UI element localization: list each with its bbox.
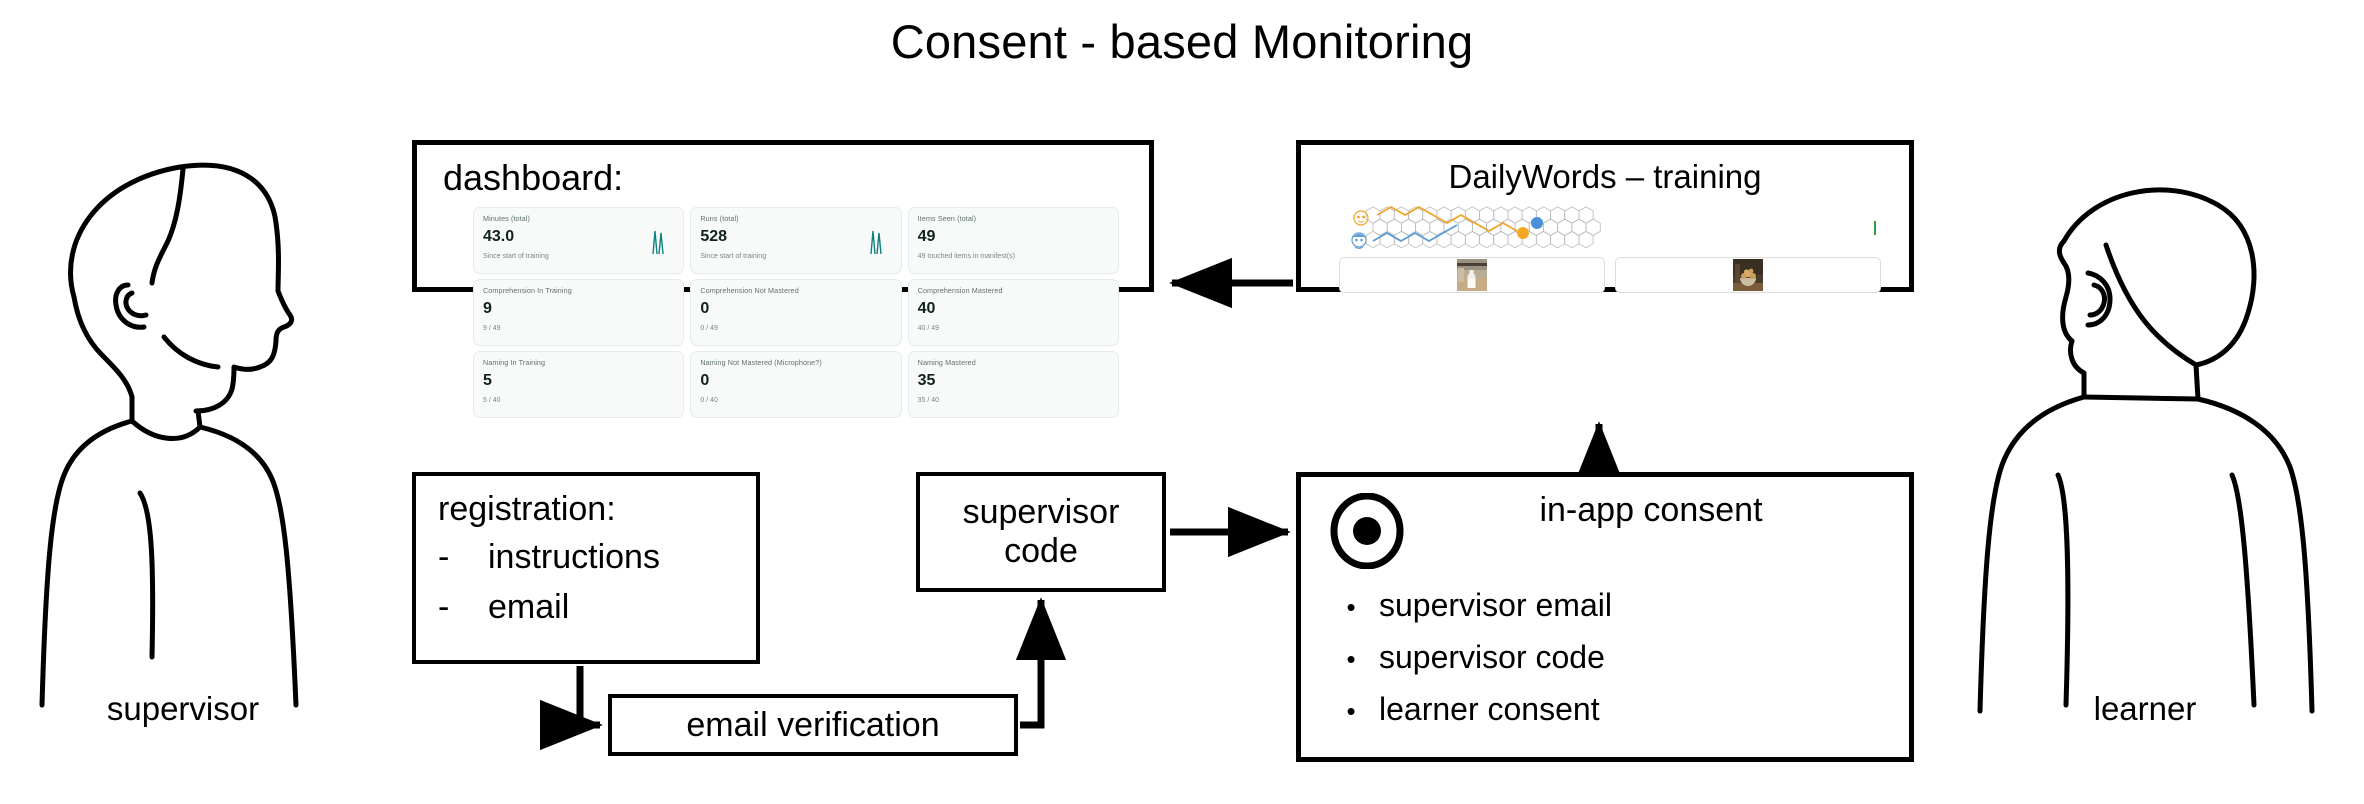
blue-avatar-icon [1352, 233, 1366, 249]
registration-item-label: email [488, 588, 569, 627]
bullet-icon: • [1323, 696, 1379, 727]
consent-list-item: •learner consent [1323, 691, 1883, 743]
dashboard-card: Items Seen (total)4949 touched items in … [908, 207, 1119, 274]
learner-figure-icon [1960, 145, 2330, 745]
dashboard-card-value: 43.0 [483, 229, 674, 245]
dashboard-card: Comprehension Not Mastered00 / 490% [690, 279, 901, 346]
dashboard-heading: dashboard: [443, 157, 623, 199]
choice-milk-bottle[interactable] [1339, 257, 1605, 293]
bowl-potatoes-image [1733, 259, 1763, 291]
dailywords-panel: DailyWords – training [1296, 140, 1914, 292]
arrow-emailverification-to-supervisorcode [1020, 600, 1041, 725]
dashboard-card-subtext: 0 / 49 [700, 325, 891, 332]
dailywords-heading: DailyWords – training [1301, 158, 1909, 196]
dashboard-card-label: Naming Mastered [918, 359, 1109, 367]
page-title: Consent - based Monitoring [0, 14, 2364, 69]
registration-heading: registration: [438, 490, 616, 529]
supervisor-label: supervisor [28, 690, 338, 728]
consent-item-label: learner consent [1379, 691, 1600, 728]
answer-choice-row [1339, 257, 1881, 293]
dashboard-card-subtext: 0 / 40 [700, 397, 891, 404]
sparkline-icon [648, 228, 674, 254]
registration-dash: - [438, 538, 454, 577]
orange-trail [1377, 207, 1517, 231]
hex-cell [1480, 231, 1494, 247]
hex-cell [1536, 231, 1550, 247]
consent-heading: in-app consent [1461, 491, 1841, 530]
dashboard-card-subtext: Since start of training [483, 253, 674, 260]
dashboard-card-value: 5 [483, 373, 674, 389]
supervisor-code-text: supervisor code [920, 476, 1162, 588]
consent-requirements-list: •supervisor email•supervisor code•learne… [1323, 587, 1883, 743]
registration-box: registration: - instructions - email [412, 472, 760, 664]
blue-marker [1531, 217, 1543, 229]
arrow-registration-to-emailverification [580, 666, 600, 725]
dashboard-card-value: 40 [918, 301, 1109, 317]
registration-dash: - [438, 588, 454, 627]
hex-cell [1451, 231, 1465, 247]
registration-item-label: instructions [488, 538, 660, 577]
supervisor-code-line1: supervisor [963, 493, 1120, 532]
dashboard-card-label: Naming In Training [483, 359, 674, 367]
in-app-consent-box: in-app consent •supervisor email•supervi… [1296, 472, 1914, 762]
radio-selected-icon [1329, 493, 1405, 569]
dashboard-card-label: Naming Not Mastered (Microphone?) [700, 359, 891, 367]
consent-item-label: supervisor email [1379, 587, 1612, 624]
consent-list-item: •supervisor email [1323, 587, 1883, 639]
dashboard-card-subtext: 5 / 40 [483, 397, 674, 404]
dashboard-card-value: 0 [700, 301, 891, 317]
dashboard-card-label: Items Seen (total) [918, 215, 1109, 223]
dashboard-card-value: 0 [700, 373, 891, 389]
dashboard-card-label: Comprehension In Training [483, 287, 674, 295]
registration-item-instructions: - instructions [438, 538, 660, 577]
hex-cell [1394, 231, 1408, 247]
dashboard-card-subtext: 40 / 49 [918, 325, 1109, 332]
dashboard-card: Naming In Training55 / 4013% [473, 351, 684, 418]
dashboard-card-value: 35 [918, 373, 1109, 389]
registration-item-email: - email [438, 588, 569, 627]
hex-cell [1551, 231, 1565, 247]
dashboard-card-grid: Minutes (total)43.0Since start of traini… [473, 207, 1119, 418]
hex-cell [1437, 231, 1451, 247]
hex-cell [1565, 231, 1579, 247]
hex-cell [1494, 231, 1508, 247]
consent-list-item: •supervisor code [1323, 639, 1883, 691]
dashboard-panel: dashboard: Minutes (total)43.0Since star… [412, 140, 1154, 292]
supervisor-code-box: supervisor code [916, 472, 1166, 592]
dashboard-card-subtext: 49 touched items in manifest(s) [918, 253, 1109, 260]
email-verification-box: email verification [608, 694, 1018, 756]
orange-marker [1517, 227, 1529, 239]
milk-bottle-image [1457, 259, 1487, 291]
bullet-icon: • [1323, 592, 1379, 623]
supervisor-code-line2: code [1004, 532, 1078, 571]
hex-cell [1366, 231, 1380, 247]
dashboard-card-label: Comprehension Not Mastered [700, 287, 891, 295]
dashboard-card-subtext: Since start of training [700, 253, 891, 260]
hex-cell [1579, 231, 1593, 247]
dashboard-card-label: Minutes (total) [483, 215, 674, 223]
email-verification-label: email verification [612, 698, 1014, 752]
dashboard-card: Comprehension Mastered4040 / 4982% [908, 279, 1119, 346]
diagram-canvas: Consent - based Monitoring [0, 0, 2364, 804]
dashboard-card-subtext: 9 / 49 [483, 325, 674, 332]
dashboard-card: Naming Mastered3535 / 4088% [908, 351, 1119, 418]
dashboard-card: Comprehension In Training99 / 4918% [473, 279, 684, 346]
consent-item-label: supervisor code [1379, 639, 1605, 676]
supervisor-figure-icon [28, 145, 338, 745]
dashboard-card-label: Comprehension Mastered [918, 287, 1109, 295]
dashboard-card-value: 49 [918, 229, 1109, 245]
dashboard-card: Minutes (total)43.0Since start of traini… [473, 207, 684, 274]
hex-cell [1465, 231, 1479, 247]
dashboard-card-label: Runs (total) [700, 215, 891, 223]
choice-bowl-potatoes[interactable] [1615, 257, 1881, 293]
dashboard-card-value: 9 [483, 301, 674, 317]
dashboard-card: Naming Not Mastered (Microphone?)00 / 40… [690, 351, 901, 418]
sparkline-icon [866, 228, 892, 254]
dashboard-card-subtext: 35 / 40 [918, 397, 1109, 404]
honeycomb-board-icon [1337, 203, 1885, 253]
dashboard-card: Runs (total)528Since start of training [690, 207, 901, 274]
bullet-icon: • [1323, 644, 1379, 675]
learner-label: learner [1960, 690, 2330, 728]
dashboard-card-value: 528 [700, 229, 891, 245]
